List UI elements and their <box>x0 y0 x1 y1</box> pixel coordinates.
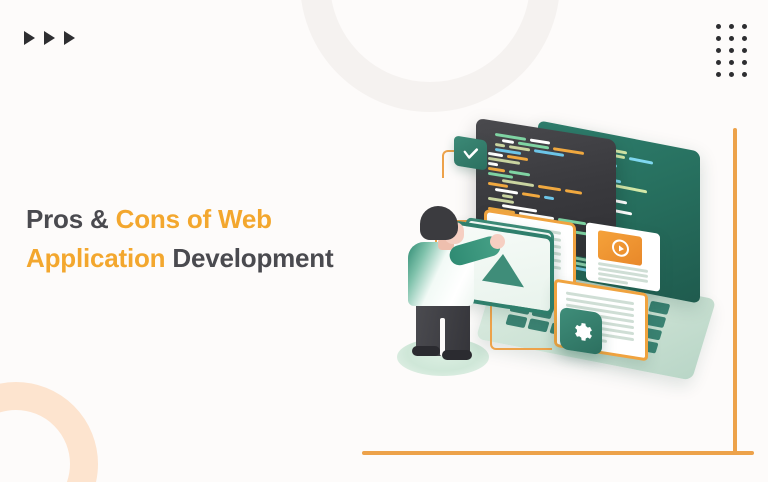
grid-dot <box>716 60 721 65</box>
poster-canvas: Pros & Cons of Web Application Developme… <box>0 0 768 482</box>
keyboard-key <box>648 301 670 315</box>
title-plain-2: Development <box>172 243 333 273</box>
bracket-horizontal-line <box>362 451 754 455</box>
code-line <box>488 162 498 167</box>
play-arrow-icon <box>24 31 35 45</box>
check-icon <box>462 143 479 163</box>
code-line <box>495 143 505 148</box>
code-line <box>495 188 518 195</box>
video-card-lines <box>586 222 660 292</box>
page-title-line-2: Application Development <box>26 239 386 278</box>
grid-dot <box>729 72 734 77</box>
figure-shoe-right <box>442 350 472 360</box>
grid-dot <box>716 72 721 77</box>
title-accent-1: Cons of Web <box>116 204 272 234</box>
grid-dot <box>729 36 734 41</box>
triple-play-arrows <box>24 31 75 45</box>
code-line <box>544 196 554 201</box>
figure-shoe-left <box>412 346 440 356</box>
code-line <box>522 192 540 198</box>
grid-dot <box>716 36 721 41</box>
bracket-vertical-line <box>733 128 737 455</box>
grid-dot <box>729 48 734 53</box>
background-ring-top-icon <box>300 0 560 112</box>
grid-dot <box>742 48 747 53</box>
check-badge <box>454 135 487 170</box>
gear-badge <box>560 307 602 356</box>
grid-dot <box>729 60 734 65</box>
grid-dot <box>742 60 747 65</box>
developer-figure <box>398 206 502 354</box>
background-ring-bottom-icon <box>0 382 98 482</box>
grid-dot <box>742 72 747 77</box>
code-line <box>502 194 513 199</box>
code-line <box>629 157 653 165</box>
grid-dot <box>729 24 734 29</box>
play-arrow-icon <box>64 31 75 45</box>
title-plain-1: Pros & <box>26 204 116 234</box>
gear-icon <box>570 318 593 345</box>
web-application-development-illustration <box>380 128 720 396</box>
figure-hair <box>420 206 458 240</box>
grid-dot <box>716 24 721 29</box>
play-arrow-icon <box>44 31 55 45</box>
page-title: Pros & Cons of Web Application Developme… <box>26 200 386 278</box>
dot-grid-icon <box>716 24 747 77</box>
grid-dot <box>742 24 747 29</box>
grid-dot <box>742 36 747 41</box>
page-title-line-1: Pros & Cons of Web <box>26 200 386 239</box>
figure-hand <box>490 234 505 249</box>
title-accent-2: Application <box>26 243 172 273</box>
code-line <box>488 182 508 188</box>
code-line <box>565 189 582 195</box>
video-card <box>586 222 660 292</box>
grid-dot <box>716 48 721 53</box>
code-line <box>538 185 561 192</box>
code-line <box>502 139 514 144</box>
